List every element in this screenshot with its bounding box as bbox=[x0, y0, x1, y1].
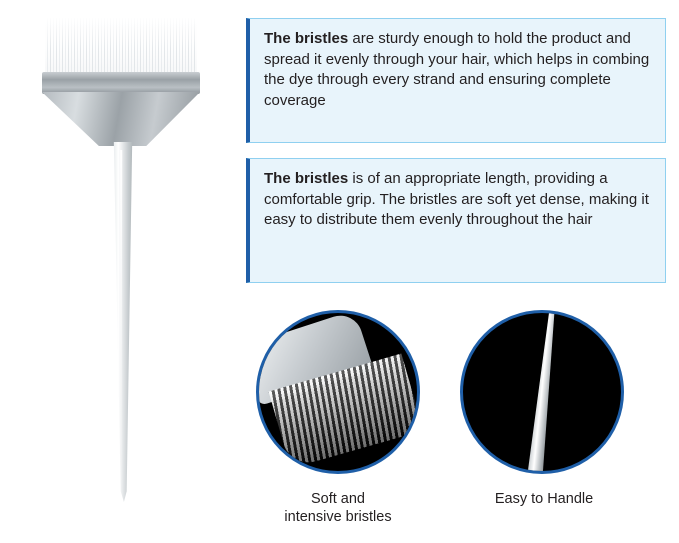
brush-bristles bbox=[45, 18, 197, 76]
detail-caption-bristles-line1: Soft and bbox=[246, 490, 430, 508]
detail-photo-bristles bbox=[256, 310, 420, 474]
product-infographic: The bristles are sturdy enough to hold t… bbox=[0, 0, 679, 543]
detail-photo-handle bbox=[460, 310, 624, 474]
closeup-handle bbox=[512, 310, 573, 474]
feature-callout-1: The bristles are sturdy enough to hold t… bbox=[246, 18, 666, 143]
feature-callout-1-lead: The bristles bbox=[264, 30, 348, 47]
product-image bbox=[0, 0, 240, 543]
brush-head-body bbox=[42, 92, 200, 146]
brush-handle bbox=[100, 142, 146, 502]
detail-caption-handle: Easy to Handle bbox=[452, 490, 636, 508]
detail-caption-handle-line1: Easy to Handle bbox=[452, 490, 636, 508]
detail-caption-bristles: Soft and intensive bristles bbox=[246, 490, 430, 526]
feature-callout-2: The bristles is of an appropriate length… bbox=[246, 158, 666, 283]
feature-callout-2-lead: The bristles bbox=[264, 170, 348, 187]
detail-caption-bristles-line2: intensive bristles bbox=[246, 508, 430, 526]
brush-ferrule bbox=[42, 72, 200, 94]
